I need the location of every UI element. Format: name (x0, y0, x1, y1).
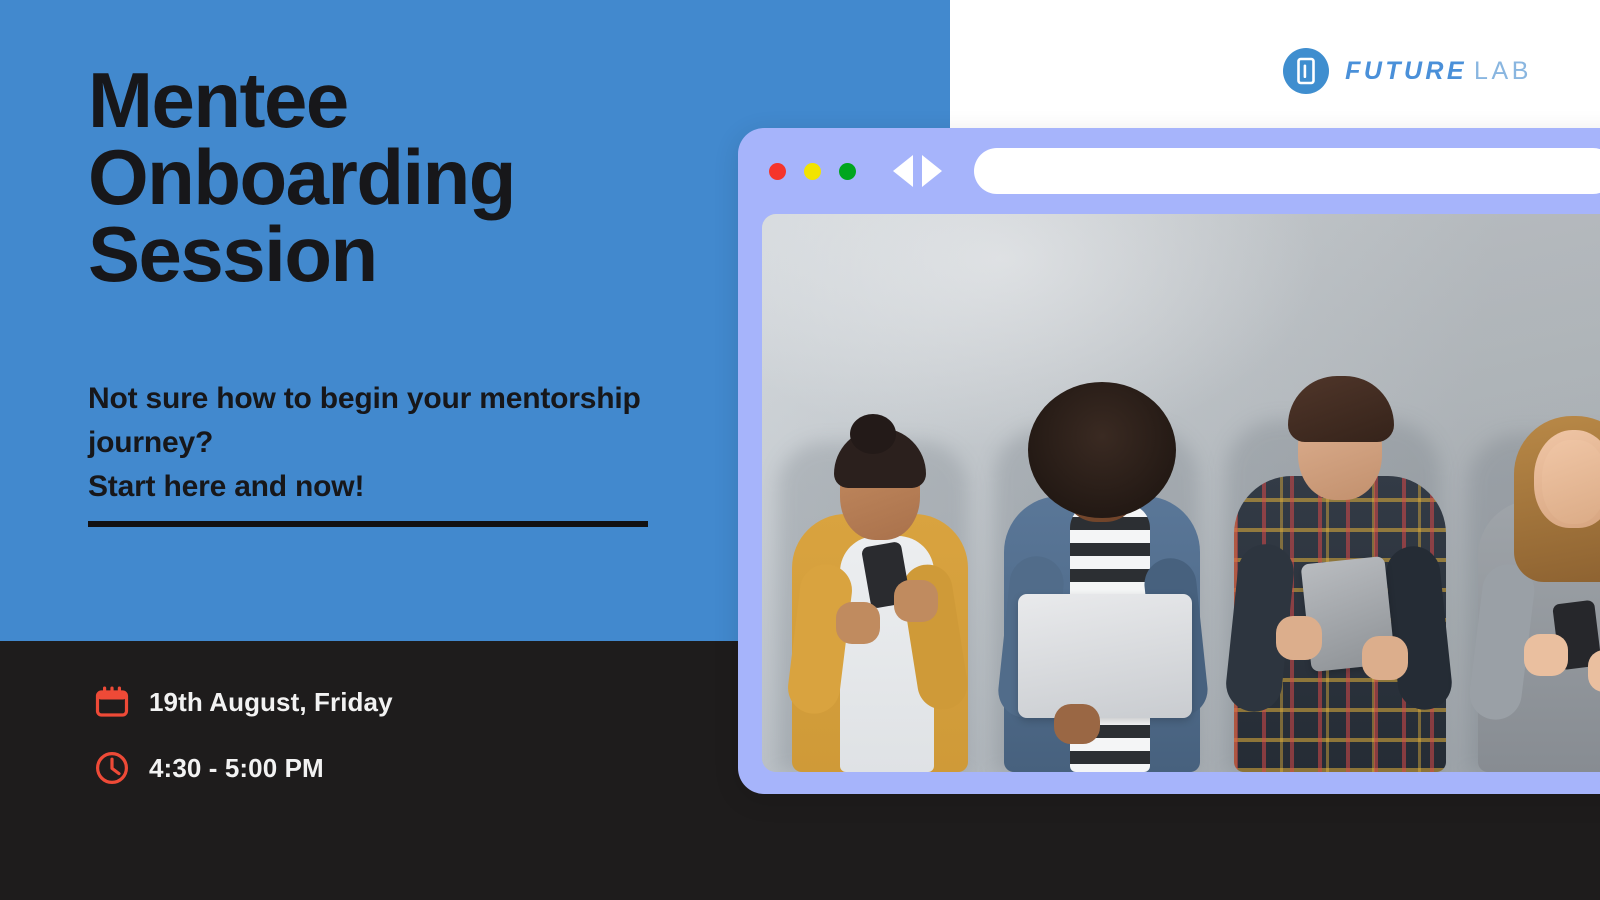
photo-person-3 (1230, 320, 1452, 772)
door-logo-icon (1283, 48, 1329, 94)
event-date-label: 19th August, Friday (149, 687, 393, 718)
title-divider (88, 521, 648, 527)
hero-photo (762, 214, 1600, 772)
browser-nav-buttons (893, 155, 942, 187)
brand-name-secondary: LAB (1474, 57, 1532, 86)
event-details: 19th August, Friday 4:30 - 5:00 PM (92, 682, 393, 788)
address-bar[interactable] (974, 148, 1600, 194)
poster-canvas: FUTURE LAB Mentee Onboarding Session Not… (0, 0, 1600, 900)
browser-viewport (762, 214, 1600, 772)
photo-person-1 (784, 372, 984, 772)
minimize-window-icon[interactable] (804, 163, 821, 180)
brand-logo[interactable]: FUTURE LAB (1283, 48, 1532, 94)
page-title: Mentee Onboarding Session (88, 62, 708, 294)
close-window-icon[interactable] (769, 163, 786, 180)
photo-person-2 (998, 342, 1210, 772)
maximize-window-icon[interactable] (839, 163, 856, 180)
forward-arrow-icon[interactable] (922, 155, 942, 187)
browser-toolbar (762, 128, 1600, 214)
brand-wordmark: FUTURE LAB (1345, 57, 1532, 86)
traffic-lights (769, 163, 856, 180)
brand-name-primary: FUTURE (1345, 57, 1467, 86)
photo-person-4 (1472, 352, 1600, 772)
back-arrow-icon[interactable] (893, 155, 913, 187)
event-time-label: 4:30 - 5:00 PM (149, 753, 324, 784)
event-time-row: 4:30 - 5:00 PM (92, 748, 393, 788)
page-subtitle: Not sure how to begin your mentorship jo… (88, 377, 688, 509)
clock-icon (92, 748, 132, 788)
browser-window-mockup (738, 128, 1600, 794)
event-date-row: 19th August, Friday (92, 682, 393, 722)
photo-laptop (1018, 594, 1192, 718)
calendar-icon (92, 682, 132, 722)
